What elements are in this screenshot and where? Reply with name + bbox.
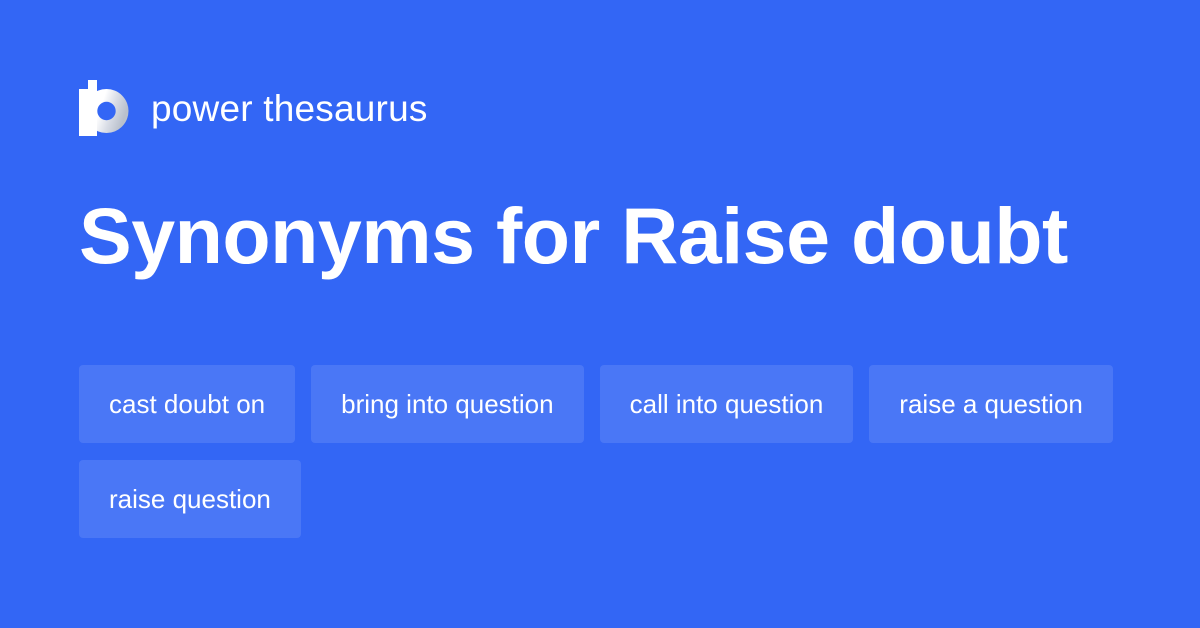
synonym-chip[interactable]: bring into question [311, 365, 583, 443]
synonym-chip[interactable]: raise question [79, 460, 301, 538]
power-thesaurus-logo-icon [79, 80, 129, 136]
synonym-chip[interactable]: call into question [600, 365, 854, 443]
synonym-chip[interactable]: raise a question [869, 365, 1113, 443]
brand-name: power thesaurus [151, 90, 428, 127]
synonym-chip[interactable]: cast doubt on [79, 365, 295, 443]
page-title: Synonyms for Raise doubt [79, 196, 1068, 275]
synonym-chip-list: cast doubt on bring into question call i… [79, 365, 1129, 538]
brand-logo-link[interactable]: power thesaurus [79, 80, 428, 136]
page-root: power thesaurus Synonyms for Raise doubt… [0, 0, 1200, 628]
